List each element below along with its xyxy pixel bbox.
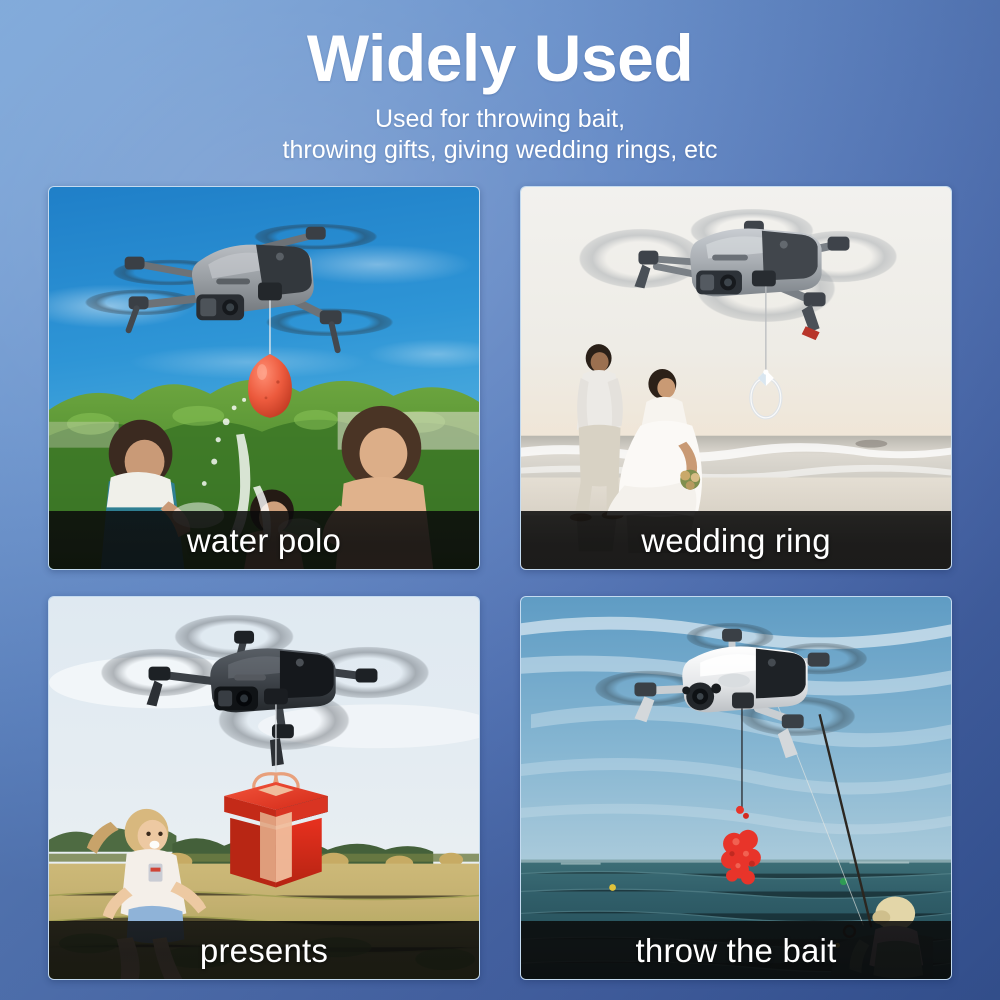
use-case-tile-presents[interactable]: presents bbox=[48, 596, 480, 980]
tile-caption-bar: presents bbox=[49, 921, 479, 979]
tile-caption-label: presents bbox=[200, 934, 328, 967]
product-marketing-poster: Widely Used Used for throwing bait, thro… bbox=[0, 0, 1000, 1000]
tile-caption-bar: wedding ring bbox=[521, 511, 951, 569]
use-case-tile-wedding-ring[interactable]: wedding ring bbox=[520, 186, 952, 570]
use-case-tile-water-polo[interactable]: water polo bbox=[48, 186, 480, 570]
poster-header: Widely Used Used for throwing bait, thro… bbox=[0, 0, 1000, 166]
tile-caption-label: wedding ring bbox=[641, 524, 831, 557]
page-subtitle: Used for throwing bait, throwing gifts, … bbox=[0, 104, 1000, 166]
tile-caption-label: throw the bait bbox=[636, 934, 837, 967]
use-case-tile-throw-the-bait[interactable]: throw the bait bbox=[520, 596, 952, 980]
tile-caption-bar: water polo bbox=[49, 511, 479, 569]
tile-caption-bar: throw the bait bbox=[521, 921, 951, 979]
page-title: Widely Used bbox=[0, 24, 1000, 94]
subtitle-line-2: throwing gifts, giving wedding rings, et… bbox=[0, 135, 1000, 166]
tile-caption-label: water polo bbox=[187, 524, 341, 557]
subtitle-line-1: Used for throwing bait, bbox=[0, 104, 1000, 135]
use-case-grid: water polo bbox=[48, 186, 952, 980]
